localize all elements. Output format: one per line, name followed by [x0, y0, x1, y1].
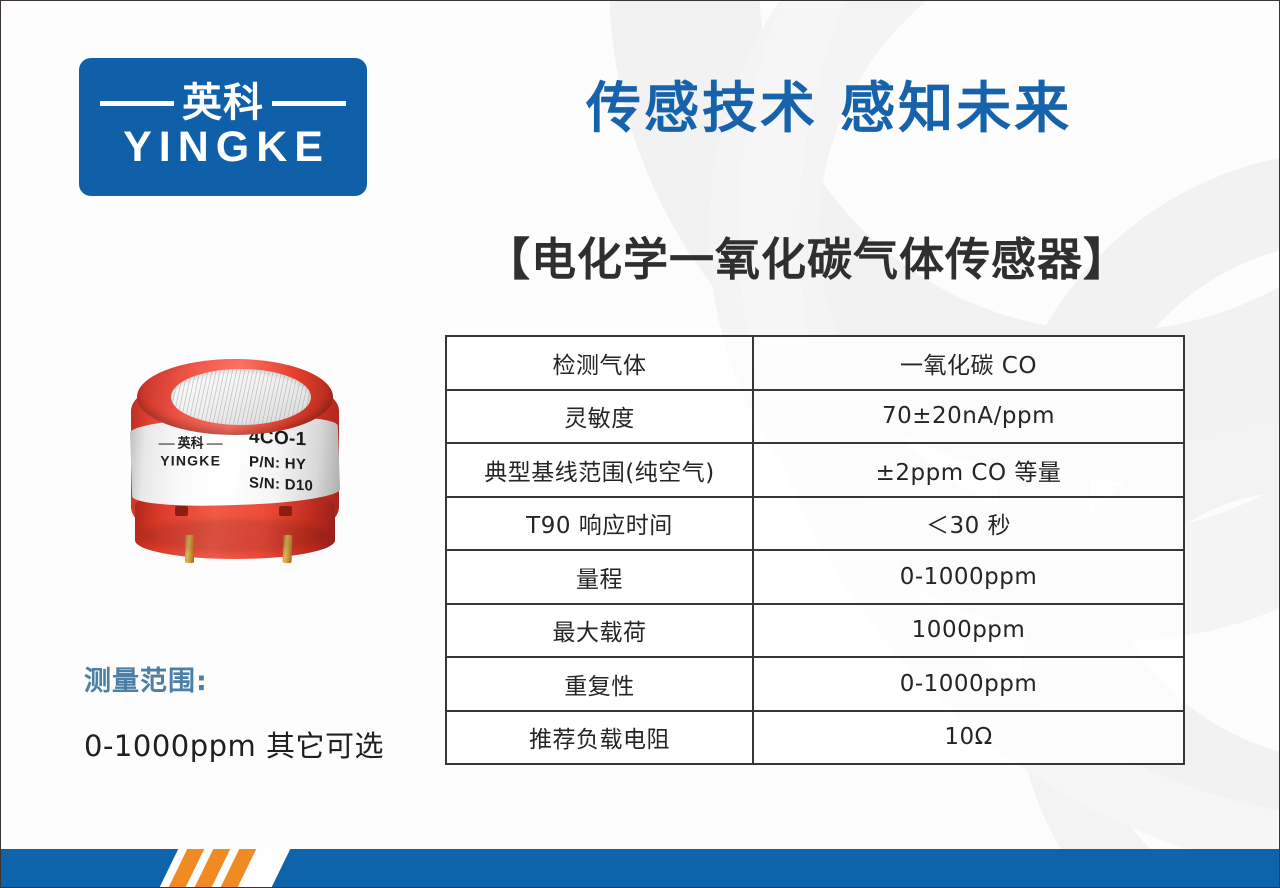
spec-key: 重复性 — [446, 657, 753, 711]
spec-key: 灵敏度 — [446, 390, 753, 444]
sensor-notch-left-icon — [175, 506, 188, 516]
spec-key: 最大载荷 — [446, 604, 753, 658]
sensor-label-brand-cn-row: 英科 — [143, 438, 239, 451]
spec-value: 1000ppm — [753, 604, 1184, 658]
table-row: 灵敏度 70±20nA/ppm — [446, 390, 1184, 444]
sensor-serial-number-text: S/N: D10 — [249, 473, 340, 499]
product-photo: 英科 YINGKE 4CO-1 P/N: HY S/N: D10 — [109, 349, 373, 599]
spec-key: 量程 — [446, 550, 753, 604]
sensor-top-rim — [137, 359, 333, 435]
sensor-mesh-icon — [171, 369, 311, 425]
brand-logo-cn-row: 英科 — [100, 83, 346, 123]
sensor-label-codes: 4CO-1 P/N: HY S/N: D10 — [249, 424, 340, 499]
table-row: 重复性 0-1000ppm — [446, 657, 1184, 711]
spec-key: T90 响应时间 — [446, 497, 753, 551]
sensor-notch-right-icon — [279, 506, 292, 516]
measurement-range-label: 测量范围: — [84, 659, 208, 698]
specification-table-body: 检测气体 一氧化碳 CO 灵敏度 70±20nA/ppm 典型基线范围(纯空气)… — [446, 336, 1184, 764]
table-row: T90 响应时间 ＜30 秒 — [446, 497, 1184, 551]
table-row: 量程 0-1000ppm — [446, 550, 1184, 604]
spec-value: ±2ppm CO 等量 — [753, 443, 1184, 497]
table-row: 典型基线范围(纯空气) ±2ppm CO 等量 — [446, 443, 1184, 497]
table-row: 检测气体 一氧化碳 CO — [446, 336, 1184, 390]
gas-sensor-illustration: 英科 YINGKE 4CO-1 P/N: HY S/N: D10 — [131, 359, 339, 559]
measurement-range-value: 0-1000ppm 其它可选 — [84, 723, 384, 765]
table-row: 最大载荷 1000ppm — [446, 604, 1184, 658]
sensor-label-brand-en: YINGKE — [143, 454, 239, 468]
brand-logo-en: YINGKE — [116, 125, 330, 170]
footer-stripe-accent — [160, 849, 291, 887]
spec-key: 典型基线范围(纯空气) — [446, 443, 753, 497]
brand-tagline: 传感技术 感知未来 — [586, 63, 1072, 143]
sensor-membrane — [171, 369, 311, 425]
sensor-label-rule-left-icon — [159, 443, 175, 445]
page-title: 【电化学一氧化碳气体传感器】 — [407, 223, 1207, 288]
spec-value: 0-1000ppm — [753, 550, 1184, 604]
spec-value: 一氧化碳 CO — [753, 336, 1184, 390]
spec-key: 检测气体 — [446, 336, 753, 390]
sensor-label-brand: 英科 YINGKE — [143, 438, 239, 468]
spec-value: 10Ω — [753, 711, 1184, 765]
brand-logo-cn: 英科 — [182, 83, 264, 123]
spec-value: 0-1000ppm — [753, 657, 1184, 711]
spec-value: 70±20nA/ppm — [753, 390, 1184, 444]
spec-key: 推荐负载电阻 — [446, 711, 753, 765]
brand-logo: 英科 YINGKE — [79, 58, 367, 196]
logo-rule-left-icon — [100, 101, 174, 106]
sensor-label-rule-right-icon — [207, 443, 223, 445]
sensor-label-brand-cn: 英科 — [178, 438, 204, 451]
logo-rule-right-icon — [272, 101, 346, 106]
footer-band — [1, 849, 1280, 887]
spec-value: ＜30 秒 — [753, 497, 1184, 551]
table-row: 推荐负载电阻 10Ω — [446, 711, 1184, 765]
sensor-drop-shadow — [141, 519, 329, 553]
product-spec-poster: 英科 YINGKE 传感技术 感知未来 【电化学一氧化碳气体传感器】 英科 — [0, 0, 1280, 888]
specification-table: 检测气体 一氧化碳 CO 灵敏度 70±20nA/ppm 典型基线范围(纯空气)… — [445, 335, 1185, 765]
